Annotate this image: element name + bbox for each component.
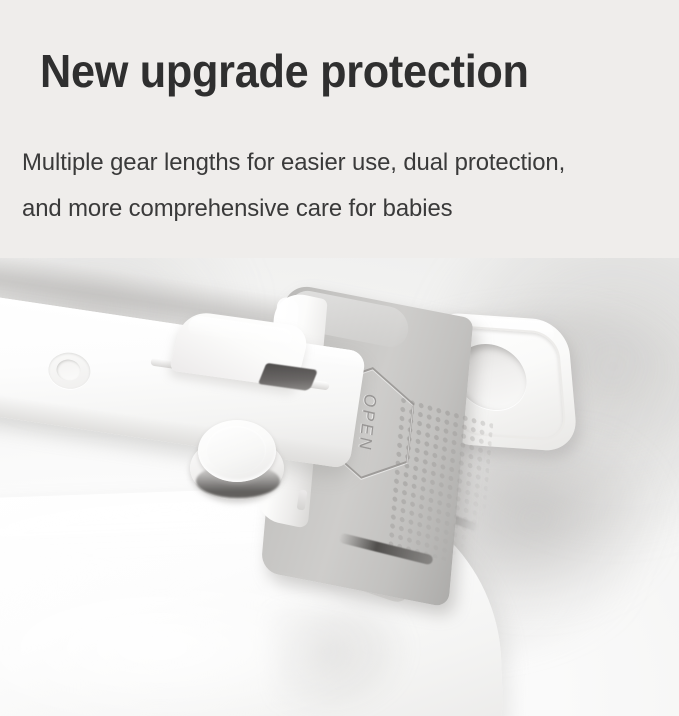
- subcopy-line-1: Multiple gear lengths for easier use, du…: [22, 140, 656, 186]
- product-photo: OPEN: [0, 258, 679, 716]
- subcopy-line-2: and more comprehensive care for babies: [22, 186, 656, 232]
- text-block: New upgrade protection Multiple gear len…: [0, 0, 679, 258]
- page-title: New upgrade protection: [40, 44, 529, 98]
- subcopy: Multiple gear lengths for easier use, du…: [22, 140, 656, 232]
- strap-arm-bottom-edge: [0, 384, 352, 469]
- release-button-face: [206, 426, 266, 474]
- product-feature-page: New upgrade protection Multiple gear len…: [0, 0, 679, 716]
- floor-highlight: [0, 576, 460, 716]
